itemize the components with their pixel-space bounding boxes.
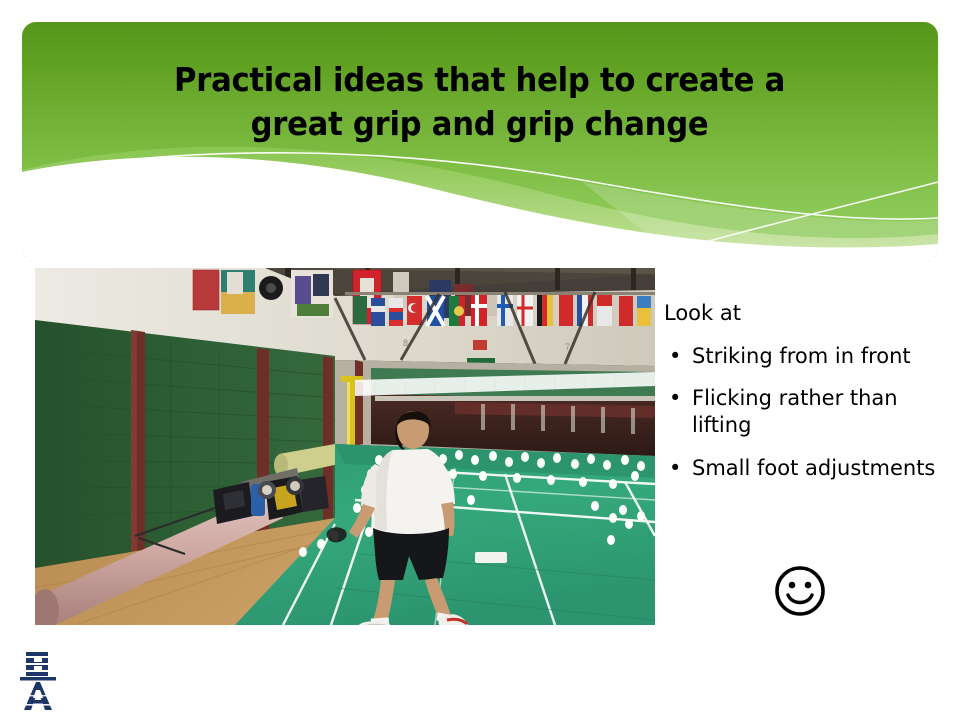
bullet-item-1: • Striking from in front (664, 343, 954, 370)
bullet-marker-icon: • (664, 455, 692, 482)
body-text-block: Look at • Striking from in front • Flick… (664, 300, 954, 497)
badminton-training-photo: 8 7 (35, 268, 655, 625)
smiley-face-icon (772, 563, 828, 619)
bullet-text-2: Flicking rather than lifting (692, 385, 954, 440)
slide-canvas: Practical ideas that help to create a gr… (0, 0, 960, 720)
bullet-marker-icon: • (664, 343, 692, 370)
ba-logo (12, 648, 64, 712)
photo-graphic: 8 7 (35, 268, 655, 625)
intro-line: Look at (664, 300, 954, 327)
bullet-text-1: Striking from in front (692, 343, 954, 370)
bullet-text-3: Small foot adjustments (692, 455, 954, 482)
bullet-marker-icon: • (664, 385, 692, 412)
title-banner: Practical ideas that help to create a gr… (22, 22, 938, 262)
banner-graphic (22, 22, 938, 262)
bullet-item-3: • Small foot adjustments (664, 455, 954, 482)
bullet-item-2: • Flicking rather than lifting (664, 385, 954, 440)
